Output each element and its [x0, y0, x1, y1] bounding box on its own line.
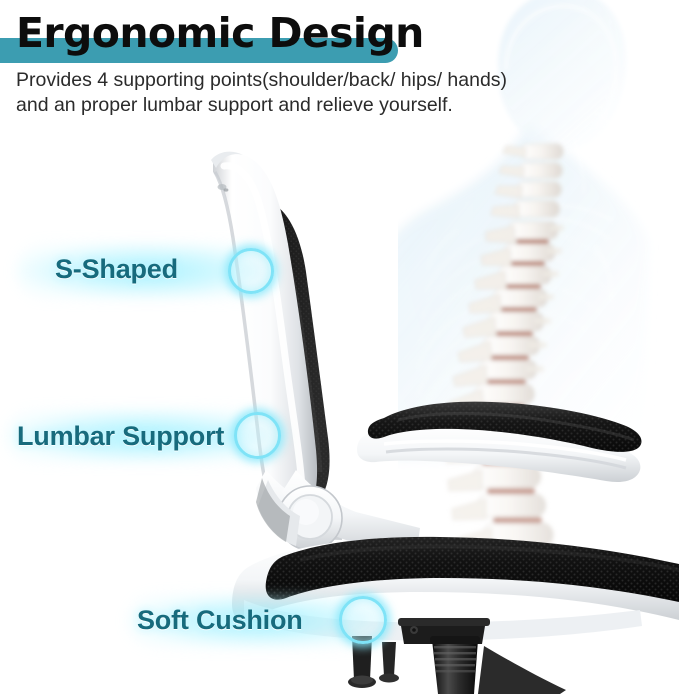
page-title: Ergonomic Design [16, 8, 424, 58]
callout-ring-soft-cushion [339, 596, 387, 644]
header-block: Ergonomic Design Provides 4 supporting p… [0, 0, 679, 125]
subtitle-line-2: and an proper lumbar support and relieve… [16, 93, 507, 118]
subtitle-text: Provides 4 supporting points(shoulder/ba… [16, 68, 507, 118]
callout-label-s-shaped: S-Shaped [55, 254, 178, 285]
callout-ring-lumbar-support [234, 412, 281, 459]
callout-label-soft-cushion: Soft Cushion [137, 605, 303, 636]
subtitle-line-1: Provides 4 supporting points(shoulder/ba… [16, 69, 507, 91]
callout-label-lumbar-support: Lumbar Support [17, 421, 224, 452]
ergonomic-design-poster: Ergonomic Design Provides 4 supporting p… [0, 0, 679, 694]
callout-ring-s-shaped [228, 248, 274, 294]
